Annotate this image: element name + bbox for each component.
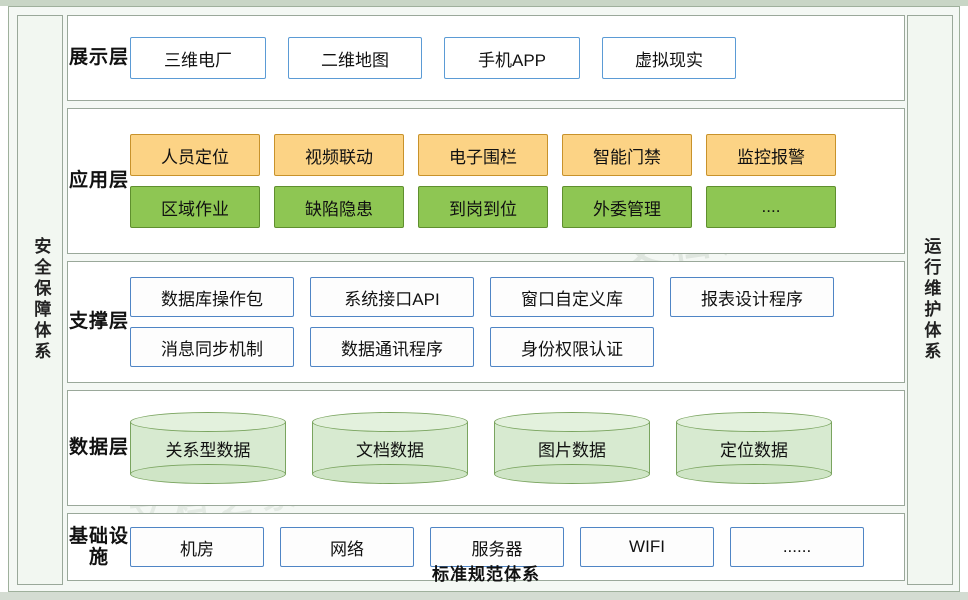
right-side-panel-label: 运行维护体系 <box>921 237 940 363</box>
layer-presentation: 展示层 三维电厂 二维地图 手机APP 虚拟现实 <box>67 15 905 101</box>
left-side-panel-label: 安全保障体系 <box>31 237 50 363</box>
node-area-operation[interactable]: 区域作业 <box>130 186 260 228</box>
node-document-data[interactable]: 文档数据 <box>312 412 468 484</box>
layer-application-row-1: 人员定位 视频联动 电子围栏 智能门禁 监控报警 <box>130 134 894 176</box>
layer-data-row-1: 关系型数据 文档数据 图片数据 <box>130 412 894 484</box>
layer-support-body: 数据库操作包 系统接口API 窗口自定义库 报表设计程序 消息同步机制 数据通讯… <box>130 262 904 382</box>
node-positioning-data-label: 定位数据 <box>676 412 832 484</box>
node-data-communication-program[interactable]: 数据通讯程序 <box>310 327 474 367</box>
node-window-custom-library[interactable]: 窗口自定义库 <box>490 277 654 317</box>
node-monitoring-alarm[interactable]: 监控报警 <box>706 134 836 176</box>
layers-column: 展示层 三维电厂 二维地图 手机APP 虚拟现实 应用层 人员定位 视频联动 <box>67 15 905 587</box>
layer-support: 支撑层 数据库操作包 系统接口API 窗口自定义库 报表设计程序 消息同步机制 … <box>67 261 905 383</box>
node-report-design-program[interactable]: 报表设计程序 <box>670 277 834 317</box>
layer-application-label: 应用层 <box>68 109 130 253</box>
node-identity-authorization[interactable]: 身份权限认证 <box>490 327 654 367</box>
node-positioning-data[interactable]: 定位数据 <box>676 412 832 484</box>
layer-data: 数据层 关系型数据 文档数据 <box>67 390 905 506</box>
node-video-linkage[interactable]: 视频联动 <box>274 134 404 176</box>
node-virtual-reality[interactable]: 虚拟现实 <box>602 37 736 79</box>
node-database-operation-package[interactable]: 数据库操作包 <box>130 277 294 317</box>
node-image-data-label: 图片数据 <box>494 412 650 484</box>
node-outsourcing-management[interactable]: 外委管理 <box>562 186 692 228</box>
layer-presentation-body: 三维电厂 二维地图 手机APP 虚拟现实 <box>130 16 904 100</box>
page-bottom-band <box>0 592 968 600</box>
node-3d-plant[interactable]: 三维电厂 <box>130 37 266 79</box>
node-on-duty[interactable]: 到岗到位 <box>418 186 548 228</box>
node-system-interface-api[interactable]: 系统接口API <box>310 277 474 317</box>
footer-standard-system: 标准规范体系 <box>67 559 905 585</box>
node-defect-hazard[interactable]: 缺陷隐患 <box>274 186 404 228</box>
layer-data-label: 数据层 <box>68 391 130 505</box>
layer-support-label: 支撑层 <box>68 262 130 382</box>
layer-support-row-2: 消息同步机制 数据通讯程序 身份权限认证 <box>130 327 894 367</box>
node-electronic-fence[interactable]: 电子围栏 <box>418 134 548 176</box>
layer-support-row-1: 数据库操作包 系统接口API 窗口自定义库 报表设计程序 <box>130 277 894 317</box>
node-application-more[interactable]: .... <box>706 186 836 228</box>
layer-presentation-label: 展示层 <box>68 16 130 100</box>
node-personnel-positioning[interactable]: 人员定位 <box>130 134 260 176</box>
node-relational-data-label: 关系型数据 <box>130 412 286 484</box>
node-message-sync-mechanism[interactable]: 消息同步机制 <box>130 327 294 367</box>
node-relational-data[interactable]: 关系型数据 <box>130 412 286 484</box>
node-mobile-app[interactable]: 手机APP <box>444 37 580 79</box>
node-smart-access-control[interactable]: 智能门禁 <box>562 134 692 176</box>
layer-presentation-row-1: 三维电厂 二维地图 手机APP 虚拟现实 <box>130 37 894 79</box>
layer-application-body: 人员定位 视频联动 电子围栏 智能门禁 监控报警 区域作业 缺陷隐患 到岗到位 … <box>130 109 904 253</box>
node-document-data-label: 文档数据 <box>312 412 468 484</box>
node-image-data[interactable]: 图片数据 <box>494 412 650 484</box>
right-side-panel: 运行维护体系 <box>907 15 953 585</box>
layer-application: 应用层 人员定位 视频联动 电子围栏 智能门禁 监控报警 区域作业 缺陷隐患 到… <box>67 108 905 254</box>
architecture-frame: 文档之家 文档之家 文档之家 安全保障体系 运行维护体系 展示层 三维电厂 二维… <box>8 6 960 592</box>
layer-data-body: 关系型数据 文档数据 图片数据 <box>130 391 904 505</box>
diagram-root: 文档之家 文档之家 文档之家 安全保障体系 运行维护体系 展示层 三维电厂 二维… <box>0 0 968 600</box>
left-side-panel: 安全保障体系 <box>17 15 63 585</box>
layer-application-row-2: 区域作业 缺陷隐患 到岗到位 外委管理 .... <box>130 186 894 228</box>
node-2d-map[interactable]: 二维地图 <box>288 37 422 79</box>
